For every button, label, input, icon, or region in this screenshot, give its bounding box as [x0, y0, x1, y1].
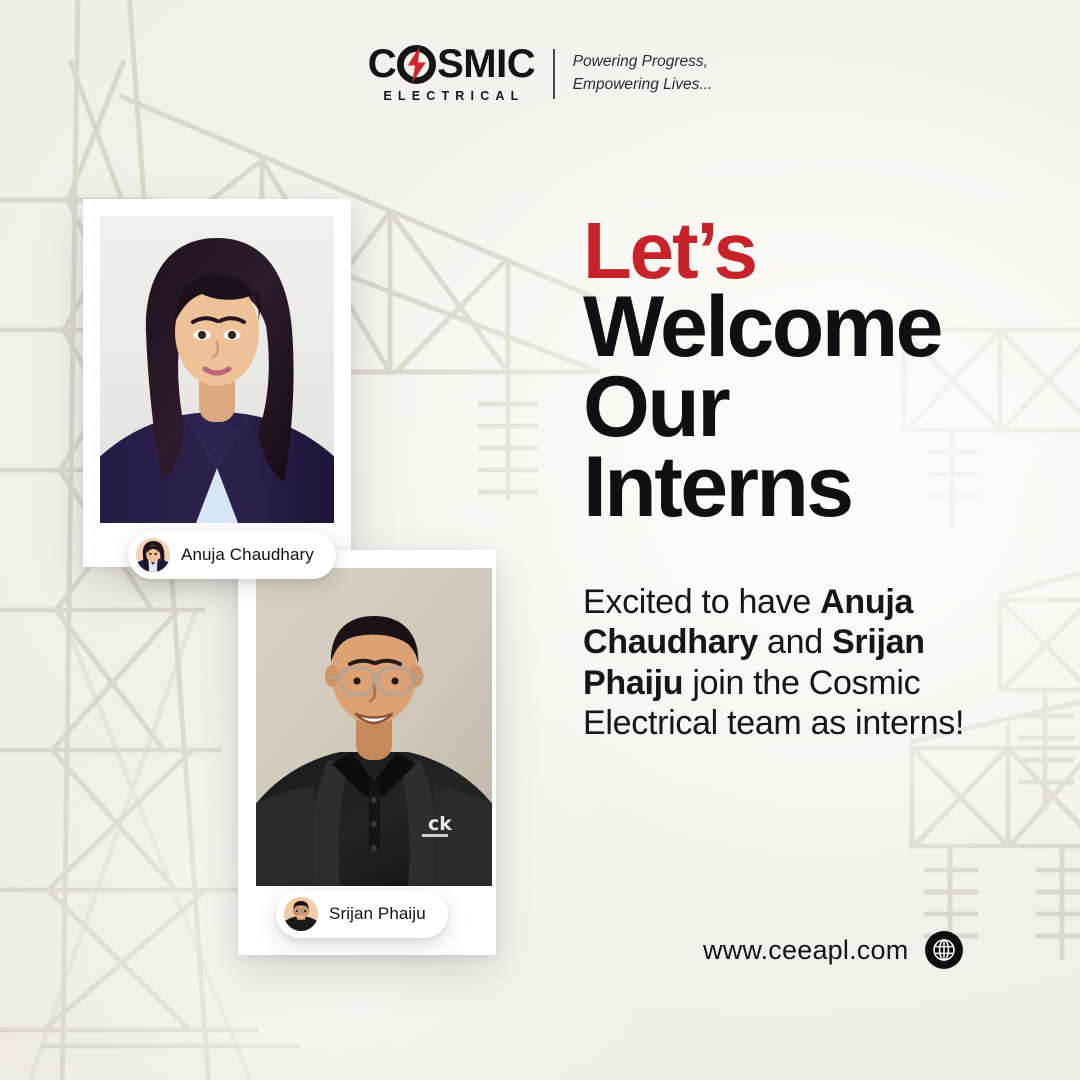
logo-mark: C SMIC ELECTRICAL	[368, 44, 535, 103]
name-badge-label: Srijan Phaiju	[329, 904, 426, 924]
avatar-anuja-chaudhary	[136, 538, 170, 572]
avatar-srijan-phaiju	[284, 897, 318, 931]
body-conjunction: and	[758, 623, 832, 661]
logo-subtitle: ELECTRICAL	[378, 89, 524, 103]
headline-line-interns: Interns	[583, 448, 1023, 528]
name-badge-srijan[interactable]: Srijan Phaiju	[276, 890, 448, 938]
page-title: Let’s Welcome Our Interns	[583, 214, 1023, 528]
brand-logo: C SMIC ELECTRICAL Powering Progress, Emp…	[0, 44, 1080, 103]
svg-text:ck: ck	[428, 813, 452, 835]
headline-line-our: Our	[583, 368, 1023, 448]
right-content-column: Let’s Welcome Our Interns Excited to hav…	[583, 214, 1023, 743]
portrait-srijan-phaiju: ck	[256, 568, 492, 886]
headline-line-welcome: Welcome	[583, 288, 1023, 368]
logo-wordmark: C SMIC	[368, 44, 535, 84]
name-badge-label: Anuja Chaudhary	[181, 545, 314, 565]
website-url[interactable]: www.ceeapl.com	[703, 935, 908, 966]
logo-divider	[553, 49, 555, 99]
headline-line-lets: Let’s	[583, 214, 1023, 288]
lightning-bolt-icon	[397, 45, 436, 84]
website-footer[interactable]: www.ceeapl.com	[703, 931, 963, 969]
logo-letters-smic: SMIC	[437, 44, 535, 84]
globe-icon	[925, 931, 963, 969]
body-paragraph: Excited to have Anuja Chaudhary and Srij…	[583, 582, 1023, 742]
photo-card-anuja	[83, 199, 351, 567]
portrait-anuja-chaudhary	[100, 216, 334, 523]
body-prefix: Excited to have	[583, 583, 820, 621]
poster-canvas: C SMIC ELECTRICAL Powering Progress, Emp…	[0, 0, 1080, 1080]
logo-letter-c: C	[368, 44, 396, 84]
brand-tagline: Powering Progress, Empowering Lives...	[573, 51, 713, 96]
name-badge-anuja[interactable]: Anuja Chaudhary	[128, 531, 336, 579]
